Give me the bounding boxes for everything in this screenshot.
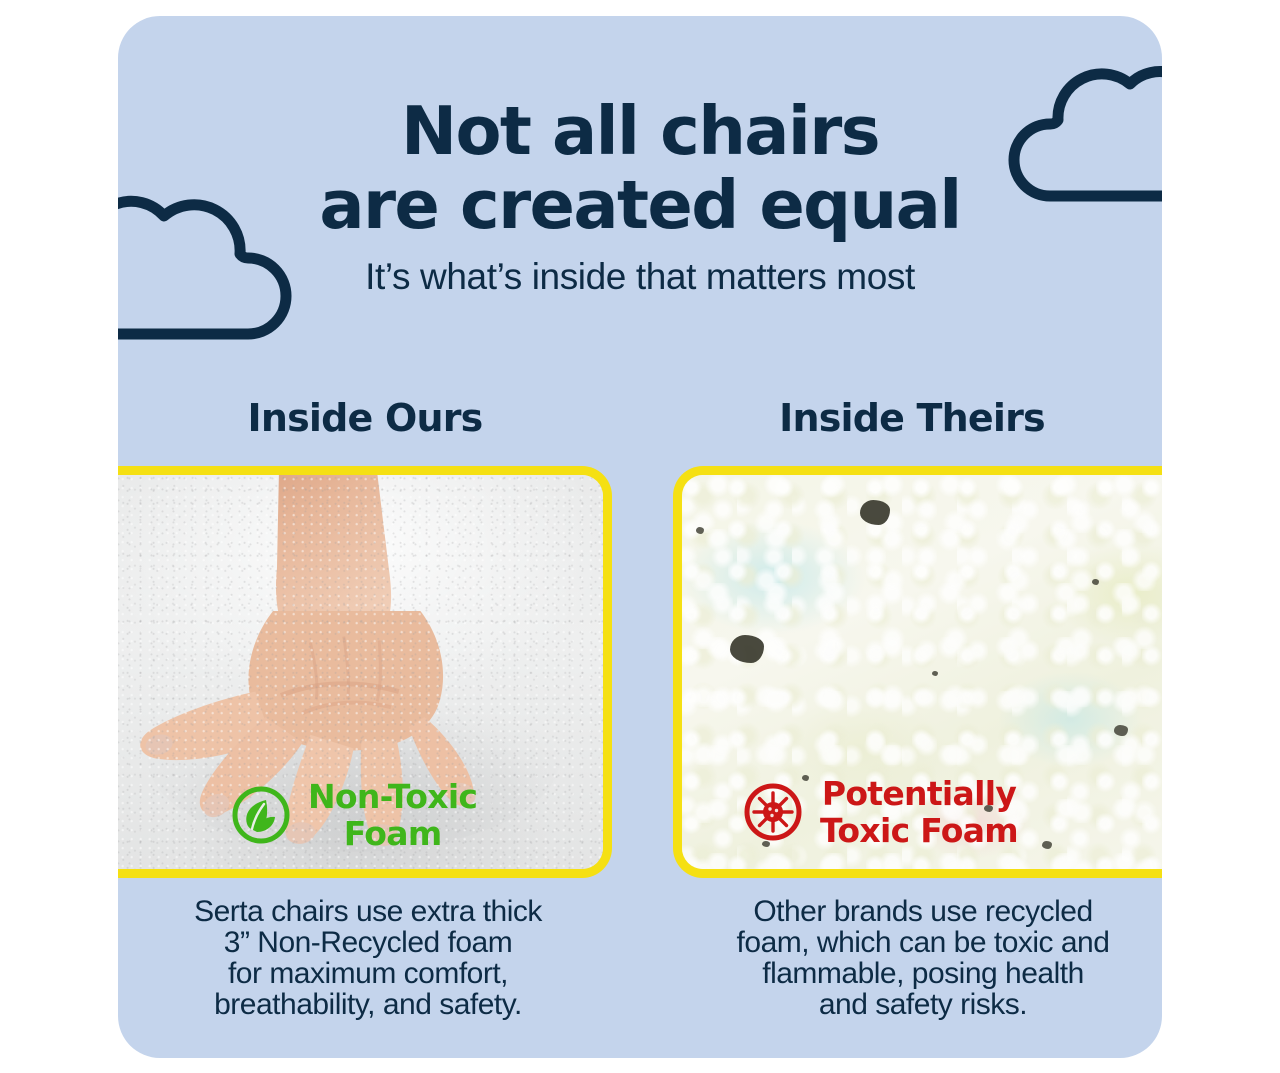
caption-theirs: Other brands use recycled foam, which ca… xyxy=(673,896,1162,1020)
column-title-theirs: Inside Theirs xyxy=(662,396,1162,440)
column-title-ours: Inside Ours xyxy=(118,396,612,440)
photo-panel-theirs: Potentially Toxic Foam xyxy=(673,466,1162,878)
caption-ours: Serta chairs use extra thick 3” Non-Recy… xyxy=(128,896,608,1020)
foam-fleck xyxy=(1092,579,1099,585)
foam-fleck xyxy=(1114,725,1128,736)
leaf-circle-icon xyxy=(230,784,292,846)
badge-non-toxic-foam: Non-Toxic Foam xyxy=(230,778,477,852)
germ-circle-icon xyxy=(742,781,804,843)
foam-fleck xyxy=(1042,841,1052,849)
headline-block: Not all chairs are created equal It’s wh… xyxy=(118,94,1162,298)
badge-label-potentially-toxic: Potentially Toxic Foam xyxy=(820,775,1018,849)
headline-line-2: are created equal xyxy=(118,168,1162,242)
foam-fleck xyxy=(696,527,704,534)
photo-panel-ours: Non-Toxic Foam xyxy=(118,466,612,878)
infographic-card: Not all chairs are created equal It’s wh… xyxy=(118,16,1162,1058)
headline-line-1: Not all chairs xyxy=(118,94,1162,168)
foam-fleck xyxy=(932,671,938,676)
subheadline: It’s what’s inside that matters most xyxy=(118,256,1162,298)
badge-label-non-toxic: Non-Toxic Foam xyxy=(308,778,477,852)
badge-potentially-toxic-foam: Potentially Toxic Foam xyxy=(742,775,1018,849)
foam-fleck xyxy=(860,500,890,525)
foam-fleck xyxy=(730,635,764,663)
